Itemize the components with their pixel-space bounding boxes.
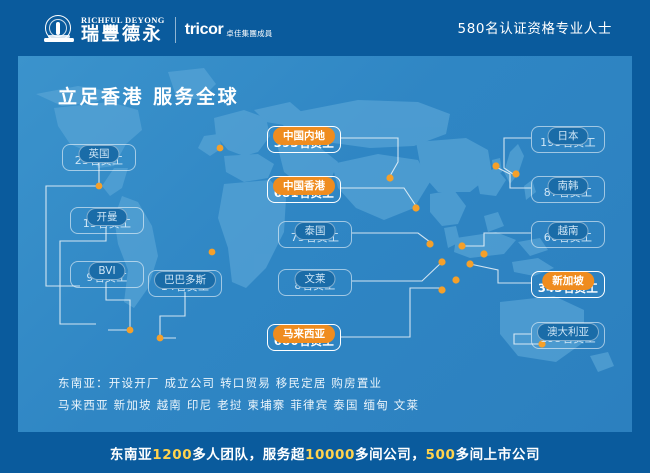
location-box-japan: 日本195名员工 xyxy=(531,126,605,153)
location-label-mainland: 中国内地 xyxy=(273,127,335,145)
footnotes: 东南亚：开设开厂 成立公司 转口贸易 移民定居 购房置业 马来西亚 新加坡 越南… xyxy=(58,372,419,416)
location-node-malaysia[interactable]: 马来西亚680名员工 xyxy=(267,316,341,351)
footer-number-companies: 10000 xyxy=(305,447,355,463)
footer-number-team: 1200 xyxy=(152,447,192,463)
location-box-bvi: BVI9名员工 xyxy=(70,261,144,288)
footnote-line-1: 东南亚：开设开厂 成立公司 转口贸易 移民定居 购房置业 xyxy=(58,372,419,394)
location-box-hongkong: 中国香港681名员工 xyxy=(267,176,341,203)
location-box-vietnam: 越南60名员工 xyxy=(531,221,605,248)
location-label-brunei: 文莱 xyxy=(295,270,336,288)
header-tagline: 580名认证资格专业人士 xyxy=(458,17,612,37)
location-label-cayman: 开曼 xyxy=(87,208,128,226)
location-node-vietnam[interactable]: 越南60名员工 xyxy=(531,213,605,248)
location-box-southkorea: 南韩87名员工 xyxy=(531,176,605,203)
footer-seg-2: 多人团队，服务超 xyxy=(192,447,305,463)
location-box-barbados: 巴巴多斯14名员工 xyxy=(148,270,222,297)
location-label-australia: 澳大利亚 xyxy=(537,323,599,341)
location-box-malaysia: 马来西亚680名员工 xyxy=(267,324,341,351)
location-box-cayman: 开曼15名员工 xyxy=(70,207,144,234)
location-box-mainland: 中国内地393名员工 xyxy=(267,126,341,153)
footer-summary: 东南亚1200多人团队，服务超10000多间公司，500多间上市公司 xyxy=(110,443,540,463)
location-node-cayman[interactable]: 开曼15名员工 xyxy=(70,199,144,234)
map-panel: 立足香港 服务全球 英国23名员工开曼15名员工BVI9名员工巴巴多斯14名员工… xyxy=(18,56,632,432)
location-node-uk[interactable]: 英国23名员工 xyxy=(62,136,136,171)
location-box-uk: 英国23名员工 xyxy=(62,144,136,171)
location-box-singapore: 新加坡343名员工 xyxy=(531,271,605,298)
location-label-barbados: 巴巴多斯 xyxy=(154,271,216,289)
location-label-japan: 日本 xyxy=(548,127,589,145)
infographic-poster: RICHFUL DEYONG 瑞豐德永 tricor 卓佳集團成員 580名认证… xyxy=(0,0,650,473)
location-node-australia[interactable]: 澳大利亚195名员工 xyxy=(531,314,605,349)
location-node-japan[interactable]: 日本195名员工 xyxy=(531,118,605,153)
page-title: 立足香港 服务全球 xyxy=(58,82,239,109)
location-node-mainland[interactable]: 中国内地393名员工 xyxy=(267,118,341,153)
location-label-uk: 英国 xyxy=(79,145,120,163)
footer-seg-4: 多间上市公司 xyxy=(455,447,540,463)
location-node-thailand[interactable]: 泰国75名员工 xyxy=(278,213,352,248)
location-label-singapore: 新加坡 xyxy=(542,272,594,290)
crest-emblem-icon xyxy=(44,15,74,45)
location-node-hongkong[interactable]: 中国香港681名员工 xyxy=(267,168,341,203)
location-label-malaysia: 马来西亚 xyxy=(273,325,335,343)
brand-name-cn: 瑞豐德永 xyxy=(81,25,165,45)
location-box-australia: 澳大利亚195名员工 xyxy=(531,322,605,349)
logo-divider xyxy=(175,17,176,43)
location-node-barbados[interactable]: 巴巴多斯14名员工 xyxy=(148,262,222,297)
partner-name: tricor xyxy=(185,21,224,39)
footer-number-listed: 500 xyxy=(425,447,455,463)
location-label-southkorea: 南韩 xyxy=(548,177,589,195)
location-box-brunei: 文莱8名员工 xyxy=(278,269,352,296)
footer-seg-3: 多间公司， xyxy=(355,447,426,463)
location-label-hongkong: 中国香港 xyxy=(273,177,335,195)
location-node-brunei[interactable]: 文莱8名员工 xyxy=(278,261,352,296)
footer-bar: 东南亚1200多人团队，服务超10000多间公司，500多间上市公司 xyxy=(0,432,650,473)
company-logo: RICHFUL DEYONG 瑞豐德永 tricor 卓佳集團成員 xyxy=(44,14,272,46)
location-node-southkorea[interactable]: 南韩87名员工 xyxy=(531,168,605,203)
location-label-thailand: 泰国 xyxy=(295,222,336,240)
footnote-line-2: 马来西亚 新加坡 越南 印尼 老挝 柬埔寨 菲律宾 泰国 缅甸 文莱 xyxy=(58,394,419,416)
location-node-bvi[interactable]: BVI9名员工 xyxy=(70,253,144,288)
header-bar: RICHFUL DEYONG 瑞豐德永 tricor 卓佳集團成員 580名认证… xyxy=(0,0,650,55)
location-label-bvi: BVI xyxy=(88,262,125,280)
location-node-singapore[interactable]: 新加坡343名员工 xyxy=(531,263,605,298)
location-label-vietnam: 越南 xyxy=(548,222,589,240)
location-box-thailand: 泰国75名员工 xyxy=(278,221,352,248)
footer-seg-1: 东南亚 xyxy=(110,447,152,463)
partner-subtitle: 卓佳集團成員 xyxy=(226,28,272,39)
